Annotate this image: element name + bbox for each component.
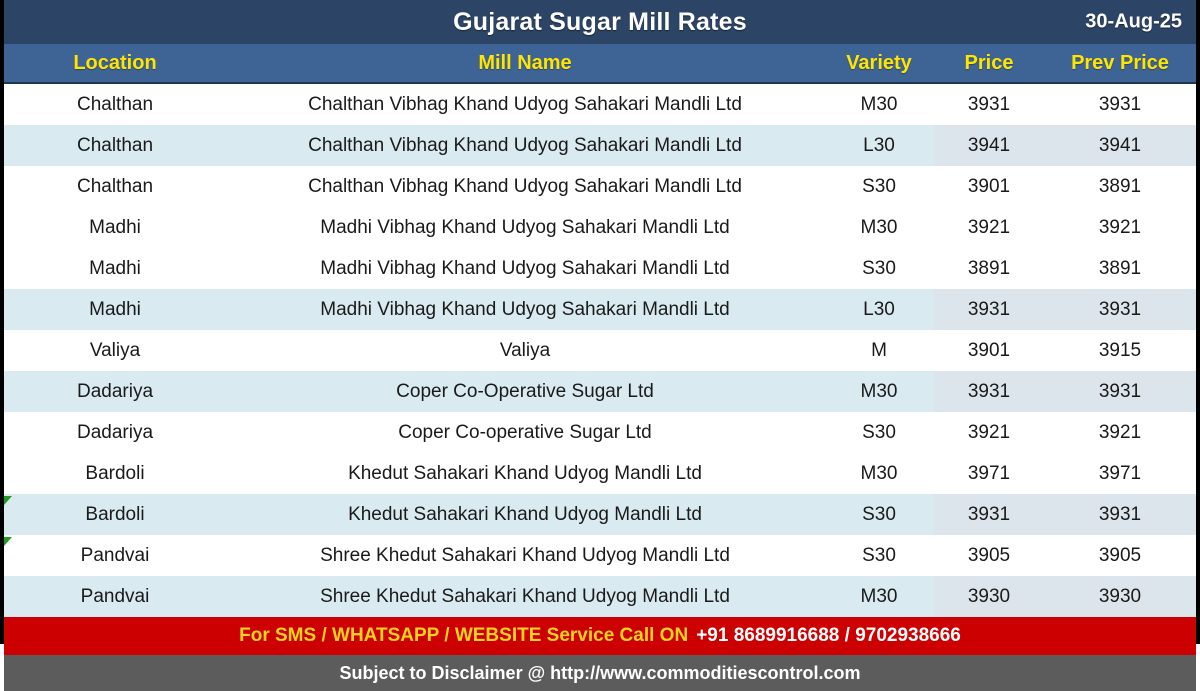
cell-mill-name: Chalthan Vibhag Khand Udyog Sahakari Man… xyxy=(226,84,824,125)
cell-prev-price: 3891 xyxy=(1044,166,1196,207)
table-row[interactable]: MadhiMadhi Vibhag Khand Udyog Sahakari M… xyxy=(4,207,1196,248)
cell-price: 3931 xyxy=(934,371,1044,412)
cell-prev-price: 3921 xyxy=(1044,207,1196,248)
table-row[interactable]: BardoliKhedut Sahakari Khand Udyog Mandl… xyxy=(4,453,1196,494)
cell-mill-name: Madhi Vibhag Khand Udyog Sahakari Mandli… xyxy=(226,248,824,289)
cell-variety: S30 xyxy=(824,535,934,576)
table-header-row: Location Mill Name Variety Price Prev Pr… xyxy=(4,44,1196,84)
cell-location: Madhi xyxy=(4,248,226,289)
cell-prev-price: 3931 xyxy=(1044,289,1196,330)
cell-variety: S30 xyxy=(824,166,934,207)
cell-mill-name: Madhi Vibhag Khand Udyog Sahakari Mandli… xyxy=(226,289,824,330)
cell-price: 3931 xyxy=(934,494,1044,535)
cell-mill-name: Coper Co-Operative Sugar Ltd xyxy=(226,371,824,412)
cell-price: 3941 xyxy=(934,125,1044,166)
cell-location: Madhi xyxy=(4,289,226,330)
cell-prev-price: 3905 xyxy=(1044,535,1196,576)
cell-location: Dadariya xyxy=(4,371,226,412)
disclaimer-text[interactable]: Subject to Disclaimer @ http://www.commo… xyxy=(340,663,861,684)
cell-variety: M30 xyxy=(824,453,934,494)
contact-bar: For SMS / WHATSAPP / WEBSITE Service Cal… xyxy=(4,617,1196,655)
table-row[interactable]: MadhiMadhi Vibhag Khand Udyog Sahakari M… xyxy=(4,289,1196,330)
cell-variety: M30 xyxy=(824,84,934,125)
column-header-mill-name[interactable]: Mill Name xyxy=(226,52,824,75)
table-row[interactable]: DadariyaCoper Co-Operative Sugar LtdM303… xyxy=(4,371,1196,412)
title-bar: Gujarat Sugar Mill Rates 30-Aug-25 xyxy=(4,0,1196,44)
table-row[interactable]: ChalthanChalthan Vibhag Khand Udyog Saha… xyxy=(4,125,1196,166)
rates-sheet: Gujarat Sugar Mill Rates 30-Aug-25 Locat… xyxy=(0,0,1200,644)
cell-location: Chalthan xyxy=(4,84,226,125)
cell-mill-name: Coper Co-operative Sugar Ltd xyxy=(226,412,824,453)
cell-prev-price: 3891 xyxy=(1044,248,1196,289)
cell-mill-name: Khedut Sahakari Khand Udyog Mandli Ltd xyxy=(226,494,824,535)
cell-price: 3931 xyxy=(934,84,1044,125)
cell-price: 3901 xyxy=(934,166,1044,207)
cell-prev-price: 3915 xyxy=(1044,330,1196,371)
cell-prev-price: 3931 xyxy=(1044,494,1196,535)
cell-location: Pandvai xyxy=(4,535,226,576)
cell-location: Dadariya xyxy=(4,412,226,453)
cell-mill-name: Madhi Vibhag Khand Udyog Sahakari Mandli… xyxy=(226,207,824,248)
disclaimer-bar: Subject to Disclaimer @ http://www.commo… xyxy=(4,655,1196,691)
table-row[interactable]: ChalthanChalthan Vibhag Khand Udyog Saha… xyxy=(4,84,1196,125)
table-row[interactable]: MadhiMadhi Vibhag Khand Udyog Sahakari M… xyxy=(4,248,1196,289)
table-body: ChalthanChalthan Vibhag Khand Udyog Saha… xyxy=(4,84,1196,617)
cell-location: Bardoli xyxy=(4,453,226,494)
cell-mill-name: Chalthan Vibhag Khand Udyog Sahakari Man… xyxy=(226,166,824,207)
table-row[interactable]: DadariyaCoper Co-operative Sugar LtdS303… xyxy=(4,412,1196,453)
cell-variety: S30 xyxy=(824,248,934,289)
cell-mill-name: Valiya xyxy=(226,330,824,371)
column-header-prev-price[interactable]: Prev Price xyxy=(1044,52,1196,75)
table-row[interactable]: ChalthanChalthan Vibhag Khand Udyog Saha… xyxy=(4,166,1196,207)
cell-location: Chalthan xyxy=(4,125,226,166)
table-row[interactable]: PandvaiShree Khedut Sahakari Khand Udyog… xyxy=(4,535,1196,576)
cell-variety: S30 xyxy=(824,494,934,535)
column-header-variety[interactable]: Variety xyxy=(824,52,934,75)
cell-variety: M30 xyxy=(824,207,934,248)
table-row[interactable]: ValiyaValiyaM39013915 xyxy=(4,330,1196,371)
page-title: Gujarat Sugar Mill Rates xyxy=(453,8,747,37)
cell-prev-price: 3931 xyxy=(1044,371,1196,412)
cell-price: 3931 xyxy=(934,289,1044,330)
cell-price: 3921 xyxy=(934,412,1044,453)
cell-variety: S30 xyxy=(824,412,934,453)
table-row[interactable]: BardoliKhedut Sahakari Khand Udyog Mandl… xyxy=(4,494,1196,535)
cell-location: Pandvai xyxy=(4,576,226,617)
cell-location: Bardoli xyxy=(4,494,226,535)
cell-variety: L30 xyxy=(824,125,934,166)
column-header-price[interactable]: Price xyxy=(934,52,1044,75)
cell-mill-name: Shree Khedut Sahakari Khand Udyog Mandli… xyxy=(226,535,824,576)
column-header-location[interactable]: Location xyxy=(4,52,226,75)
cell-mill-name: Khedut Sahakari Khand Udyog Mandli Ltd xyxy=(226,453,824,494)
cell-mill-name: Shree Khedut Sahakari Khand Udyog Mandli… xyxy=(226,576,824,617)
cell-prev-price: 3921 xyxy=(1044,412,1196,453)
report-date: 30-Aug-25 xyxy=(1085,11,1182,34)
cell-prev-price: 3931 xyxy=(1044,84,1196,125)
cell-location: Madhi xyxy=(4,207,226,248)
cell-variety: M30 xyxy=(824,576,934,617)
cell-price: 3891 xyxy=(934,248,1044,289)
cell-prev-price: 3941 xyxy=(1044,125,1196,166)
cell-location: Chalthan xyxy=(4,166,226,207)
cell-variety: L30 xyxy=(824,289,934,330)
cell-price: 3921 xyxy=(934,207,1044,248)
cell-price: 3971 xyxy=(934,453,1044,494)
cell-variety: M30 xyxy=(824,371,934,412)
cell-price: 3930 xyxy=(934,576,1044,617)
cell-prev-price: 3971 xyxy=(1044,453,1196,494)
cell-price: 3905 xyxy=(934,535,1044,576)
cell-location: Valiya xyxy=(4,330,226,371)
cell-mill-name: Chalthan Vibhag Khand Udyog Sahakari Man… xyxy=(226,125,824,166)
table-row[interactable]: PandvaiShree Khedut Sahakari Khand Udyog… xyxy=(4,576,1196,617)
cell-price: 3901 xyxy=(934,330,1044,371)
cell-prev-price: 3930 xyxy=(1044,576,1196,617)
cell-variety: M xyxy=(824,330,934,371)
